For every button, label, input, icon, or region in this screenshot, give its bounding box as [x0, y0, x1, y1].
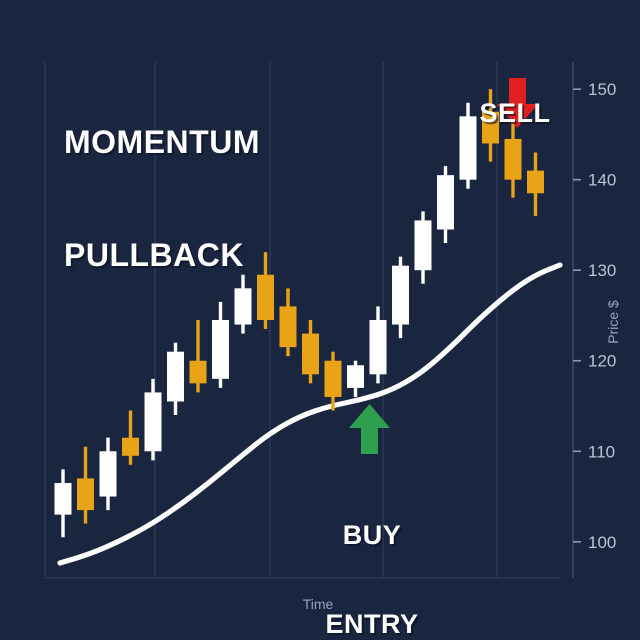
chart-title-line-2: PULLBACK — [64, 237, 260, 275]
y-axis-title: Price $ — [605, 300, 621, 344]
candle-body — [167, 352, 184, 402]
candlestick-1-up — [55, 469, 72, 537]
buy-annotation-text-line-1: BUY — [288, 521, 456, 551]
candlestick-5-up — [145, 379, 162, 460]
candle-body — [347, 365, 364, 388]
candlestick-4-down — [122, 411, 139, 465]
candle-body — [190, 361, 207, 384]
candle-body — [100, 451, 117, 496]
y-tick-label-120: 120 — [588, 352, 616, 371]
candlestick-6-up — [167, 343, 184, 415]
candlestick-17-up — [415, 211, 432, 283]
buy-annotation-text-line-2: ENTRY — [288, 610, 456, 640]
y-tick-label-130: 130 — [588, 261, 616, 280]
buy-annotation-label: BUY ENTRY — [288, 462, 456, 640]
candlestick-3-up — [100, 438, 117, 510]
candlestick-15-up — [370, 306, 387, 383]
y-tick-label-110: 110 — [588, 442, 615, 461]
candle-body — [302, 334, 319, 375]
candle-body — [415, 220, 432, 270]
candle-body — [325, 361, 342, 397]
buy-arrow-icon — [349, 404, 390, 454]
chart-title: MOMENTUM PULLBACK — [64, 48, 260, 350]
candle-body — [122, 438, 139, 456]
candle-body — [145, 392, 162, 451]
candlestick-11-down — [280, 288, 297, 356]
sell-annotation-label: SELL — [430, 40, 600, 188]
candle-body — [392, 266, 409, 325]
candlestick-2-down — [77, 447, 94, 524]
y-tick-label-100: 100 — [588, 533, 616, 552]
candle-body — [55, 483, 72, 515]
chart-canvas: 100110120130140150 Price $ Time MOMENTUM… — [0, 0, 640, 640]
candle-body — [280, 306, 297, 347]
chart-title-line-1: MOMENTUM — [64, 124, 260, 162]
sell-annotation-text: SELL — [430, 99, 600, 129]
candlestick-14-up — [347, 361, 364, 397]
candlestick-12-down — [302, 320, 319, 383]
candle-body — [77, 478, 94, 510]
candle-body — [370, 320, 387, 374]
candlestick-16-up — [392, 257, 409, 338]
